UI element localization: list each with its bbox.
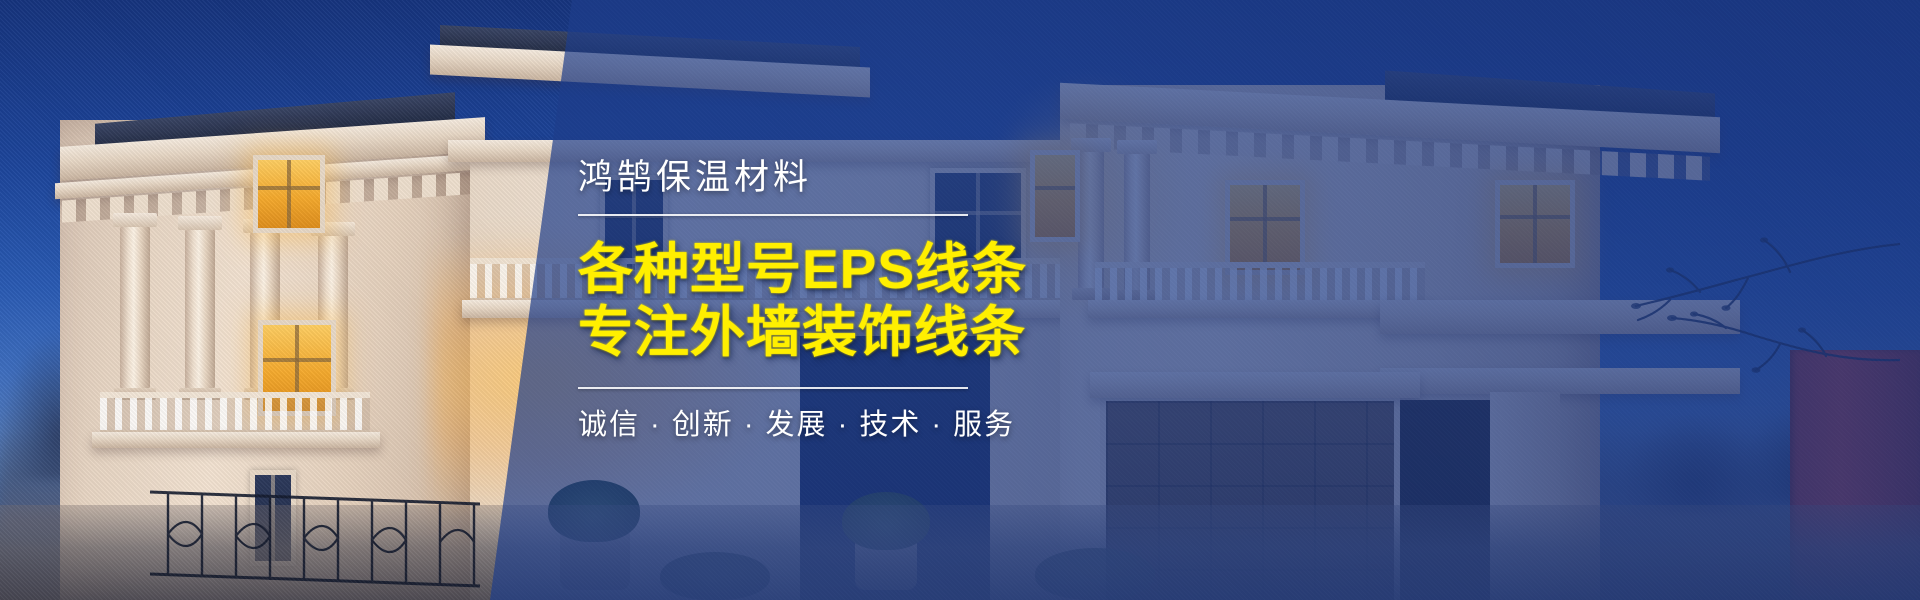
iron-fence-icon [150,470,480,600]
window-lit [1225,180,1305,275]
cornice [92,432,380,448]
cornice [1090,372,1420,398]
tree-branch-icon [1540,210,1900,430]
banner-content: 鸿鹄保温材料 各种型号EPS线条 专注外墙装饰线条 诚信 · 创新 · 发展 ·… [578,0,1138,600]
headline-line-1: 各种型号EPS线条 [578,238,1138,301]
brand-kicker: 鸿鹄保温材料 [578,160,1138,195]
balustrade [100,392,370,436]
headline-line-2: 专注外墙装饰线条 [578,301,1138,364]
divider-bottom [578,387,968,389]
column [120,225,150,390]
window-lit [253,155,325,233]
tagline: 诚信 · 创新 · 发展 · 技术 · 服务 [578,411,1138,440]
promo-banner: 鸿鹄保温材料 各种型号EPS线条 专注外墙装饰线条 诚信 · 创新 · 发展 ·… [0,0,1920,600]
column [185,228,215,390]
divider-top [578,214,968,216]
